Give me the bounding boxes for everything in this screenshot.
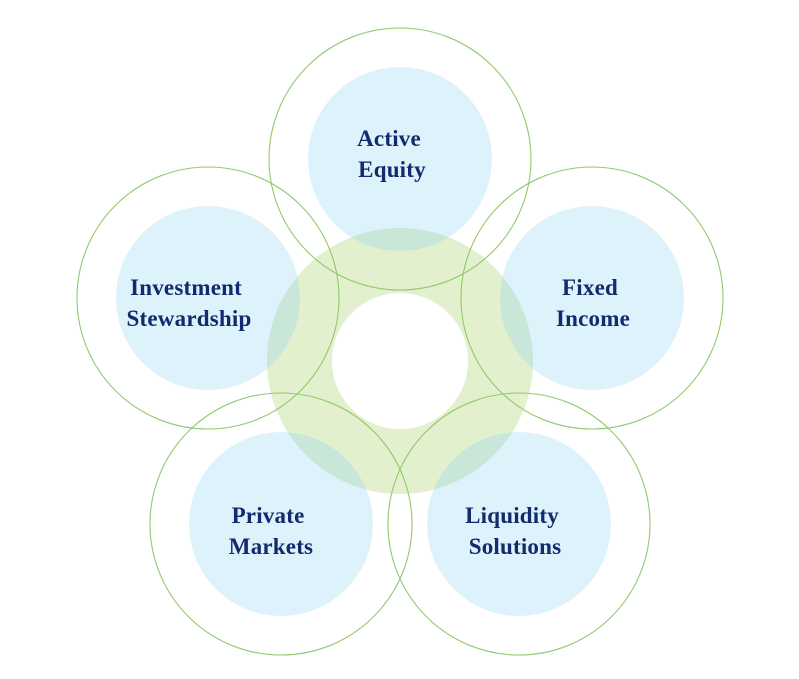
label-line: Solutions (469, 534, 562, 559)
label-line: Active (357, 126, 421, 151)
label-line: Investment (130, 275, 242, 300)
diagram-canvas: Active Equity Fixed Income Liquidity Sol… (0, 0, 799, 679)
label-line: Income (556, 306, 630, 331)
label-line: Liquidity (465, 503, 559, 528)
label-line: Stewardship (127, 306, 252, 331)
label-line: Equity (358, 157, 426, 182)
label-line: Private (232, 503, 305, 528)
hub-inner-hole (332, 293, 468, 429)
five-petal-venn-diagram: Active Equity Fixed Income Liquidity Sol… (0, 0, 799, 679)
label-line: Fixed (562, 275, 618, 300)
label-line: Markets (229, 534, 313, 559)
